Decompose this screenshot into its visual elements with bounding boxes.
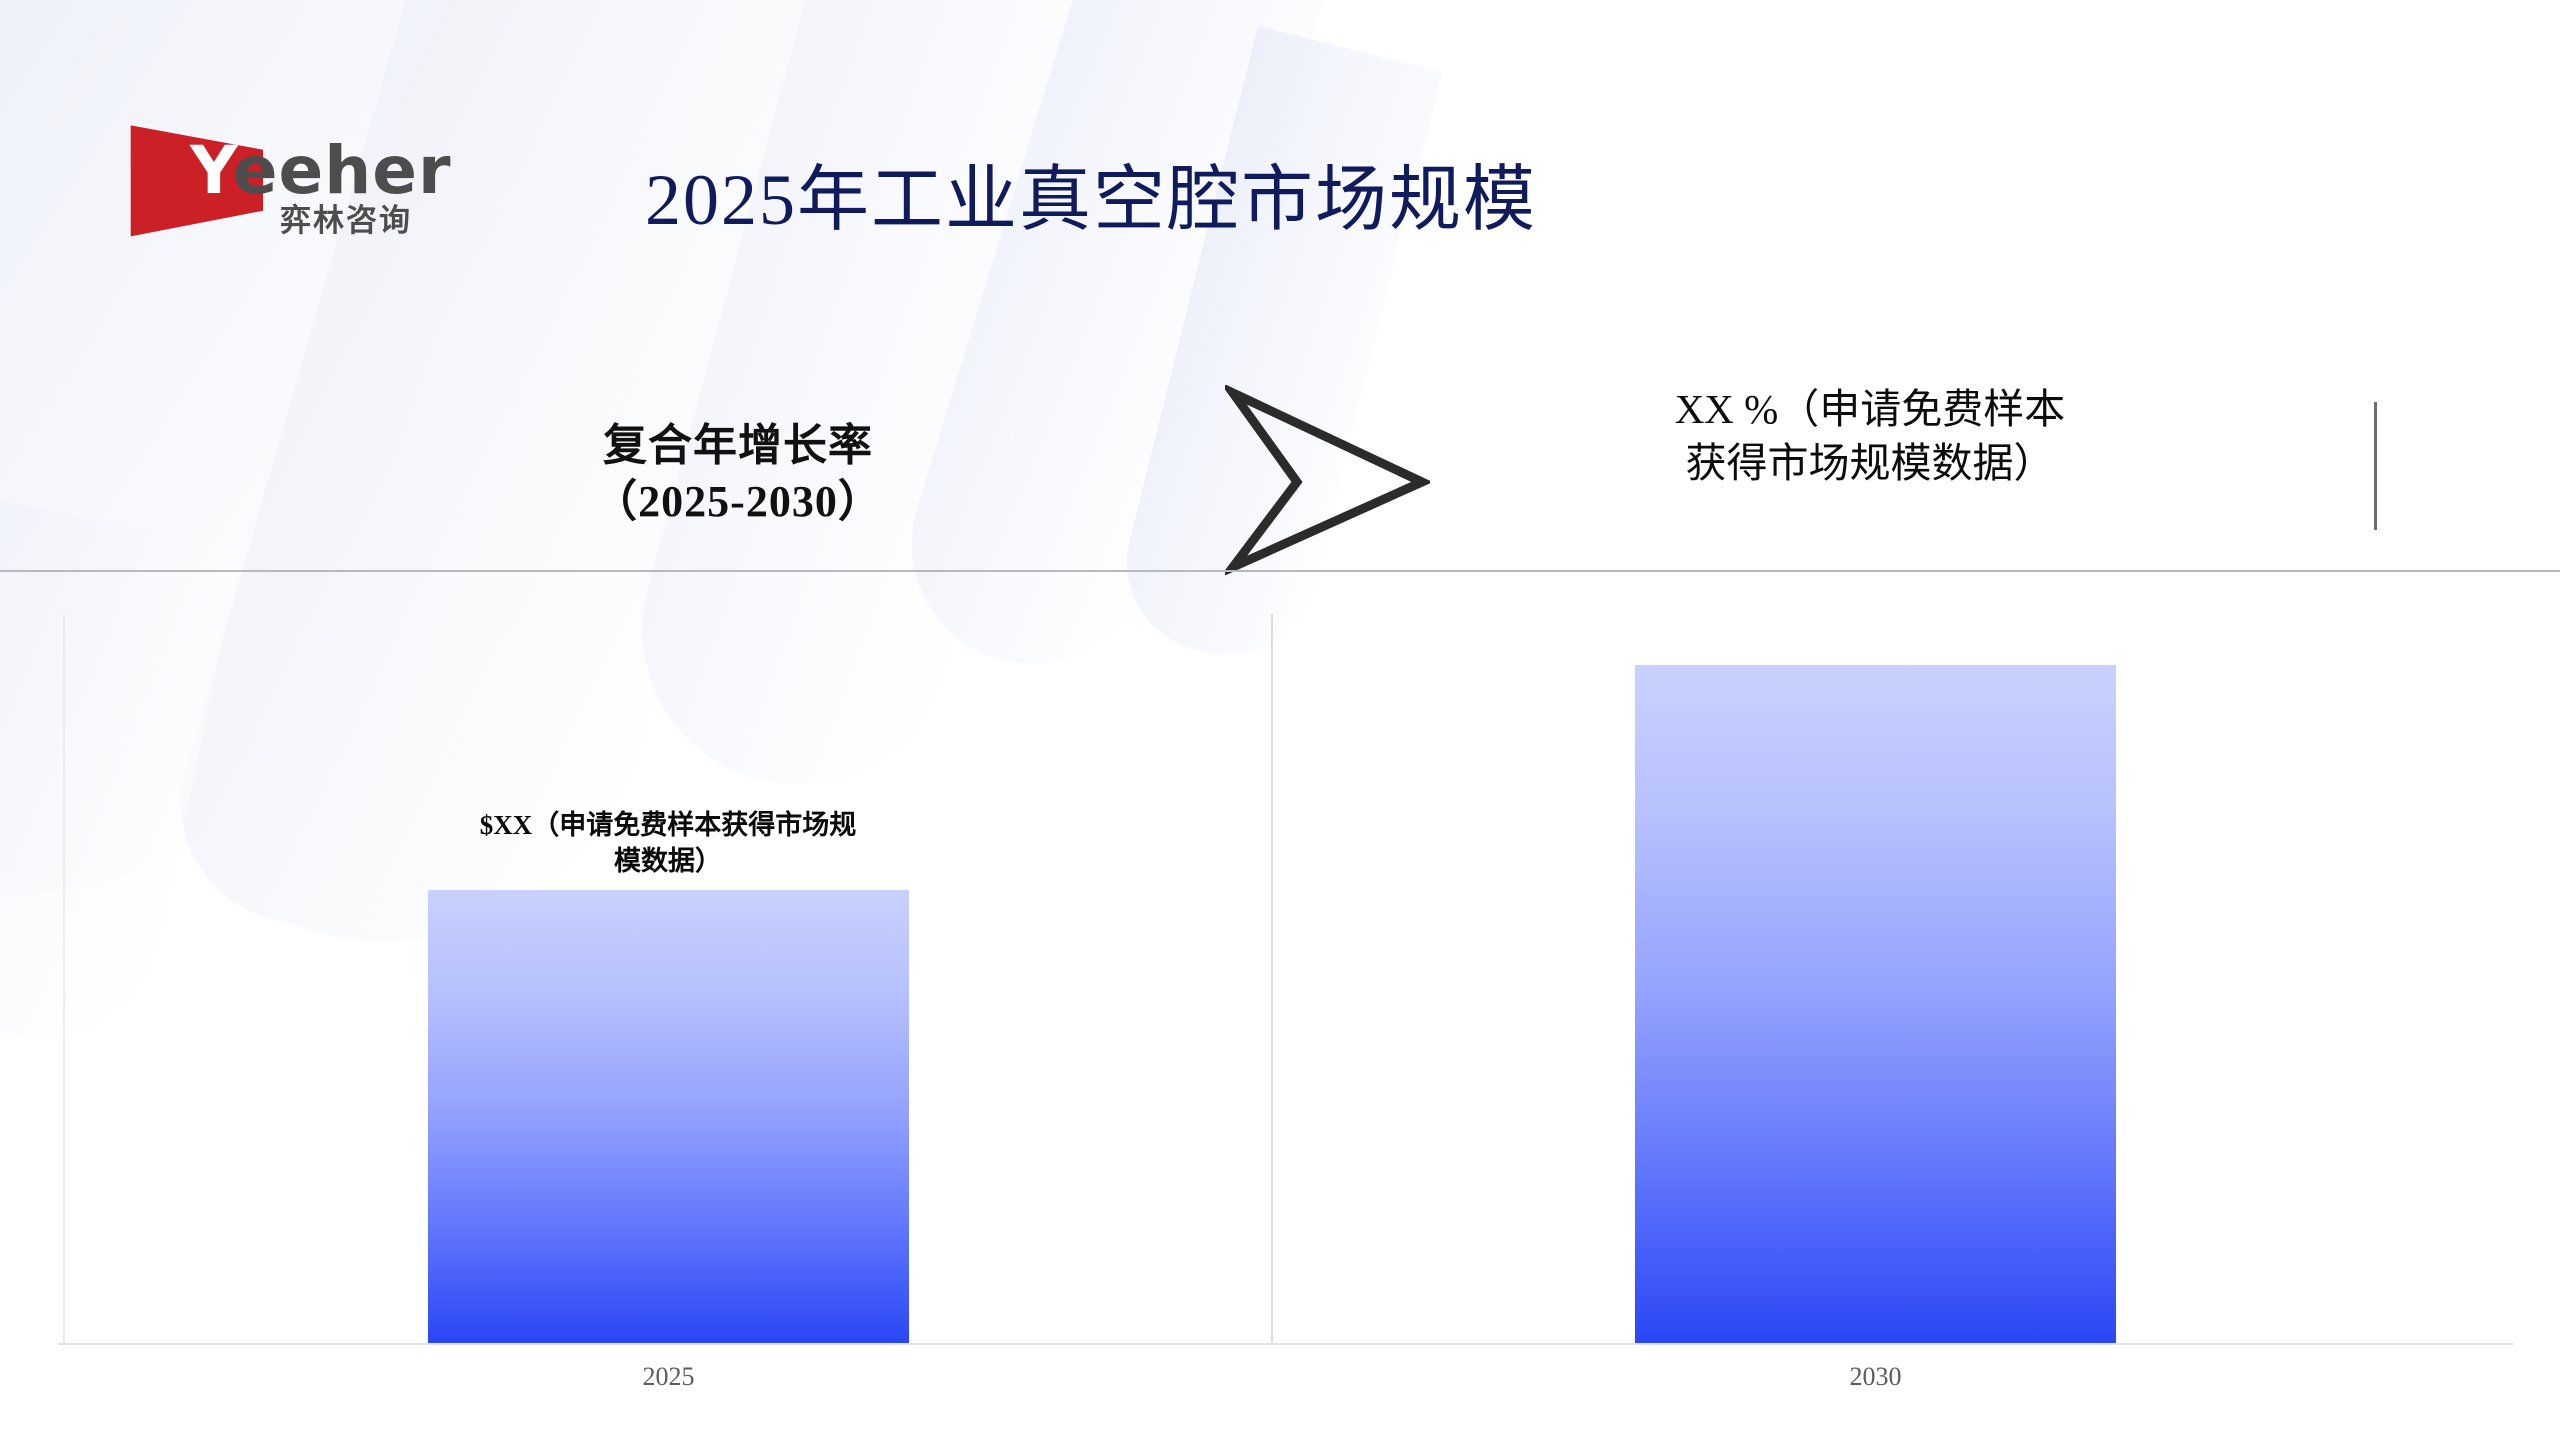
logo-wordmark: Yeeher bbox=[190, 138, 452, 204]
cagr-value-line1: XX %（申请免费样本 bbox=[1620, 382, 2120, 436]
bar-category-label-2030: 2030 bbox=[1635, 1362, 2116, 1392]
right-vertical-rule bbox=[2374, 402, 2377, 530]
chart-baseline bbox=[58, 1343, 2513, 1345]
cagr-value-line2: 获得市场规模数据） bbox=[1620, 436, 2120, 490]
yeeher-logo: Yeeher 弈林咨询 bbox=[128, 118, 468, 243]
cagr-value-text: XX %（申请免费样本 获得市场规模数据） bbox=[1620, 382, 2120, 490]
cagr-label-line2: （2025-2030） bbox=[548, 474, 928, 530]
chart-panel-divider bbox=[1271, 614, 1273, 1344]
bar-chart: $XX（申请免费样本获得市场规 模数据） 2025 2030 bbox=[0, 572, 2560, 1440]
bar-value-label-2025-line2: 模数据） bbox=[448, 843, 888, 879]
chart-left-rule bbox=[63, 614, 65, 1344]
page-title: 2025年工业真空腔市场规模 bbox=[645, 140, 1537, 245]
bar-2030[interactable] bbox=[1635, 665, 2116, 1343]
cagr-label: 复合年增长率 （2025-2030） bbox=[548, 418, 928, 531]
cagr-label-line1: 复合年增长率 bbox=[548, 418, 928, 474]
bar-value-label-2025: $XX（申请免费样本获得市场规 模数据） bbox=[448, 807, 888, 880]
bar-value-label-2025-line1: $XX（申请免费样本获得市场规 bbox=[448, 807, 888, 843]
logo-wordmark-initial: Y bbox=[190, 132, 233, 209]
logo-wordmark-rest: eeher bbox=[233, 132, 452, 209]
slide-canvas: Yeeher 弈林咨询 2025年工业真空腔市场规模 复合年增长率 （2025-… bbox=[0, 0, 2560, 1440]
bar-category-label-2025: 2025 bbox=[428, 1362, 909, 1392]
arrow-right-outline-icon bbox=[1225, 385, 1430, 575]
bar-2025[interactable] bbox=[428, 890, 909, 1343]
logo-subtitle: 弈林咨询 bbox=[280, 206, 412, 237]
